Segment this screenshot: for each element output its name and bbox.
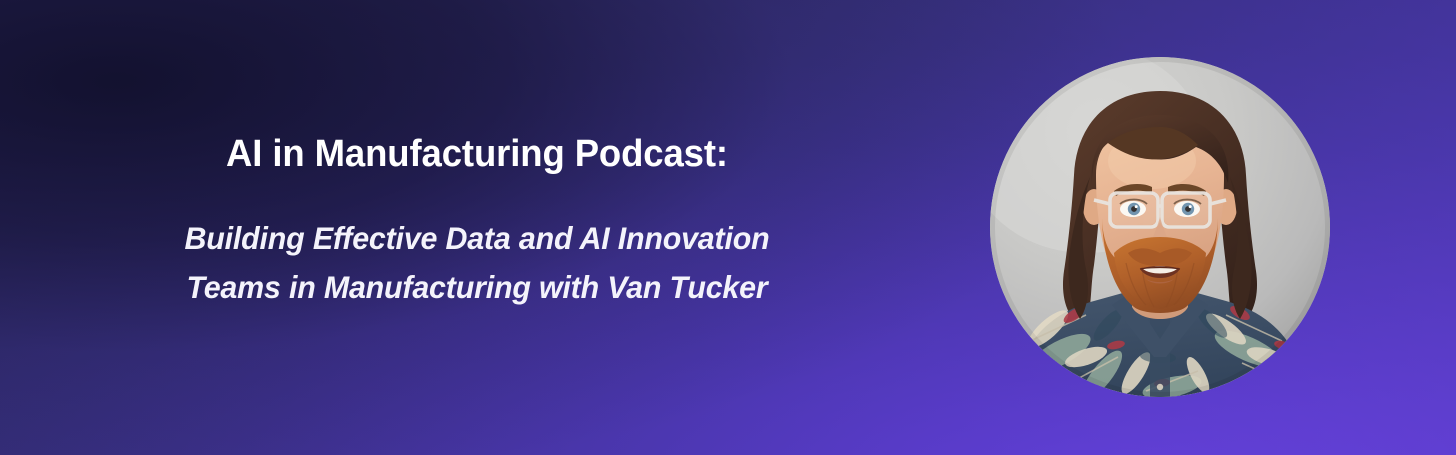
guest-portrait-illustration xyxy=(990,57,1330,397)
episode-subtitle-line-1: Building Effective Data and AI Innovatio… xyxy=(109,214,844,263)
banner-text-block: AI in Manufacturing Podcast: Building Ef… xyxy=(96,128,858,312)
episode-subtitle-line-2: Teams in Manufacturing with Van Tucker xyxy=(109,263,844,312)
podcast-episode-banner: AI in Manufacturing Podcast: Building Ef… xyxy=(0,0,1456,455)
avatar xyxy=(990,57,1330,397)
episode-subtitle: Building Effective Data and AI Innovatio… xyxy=(109,214,844,312)
page-title: AI in Manufacturing Podcast: xyxy=(111,128,843,180)
